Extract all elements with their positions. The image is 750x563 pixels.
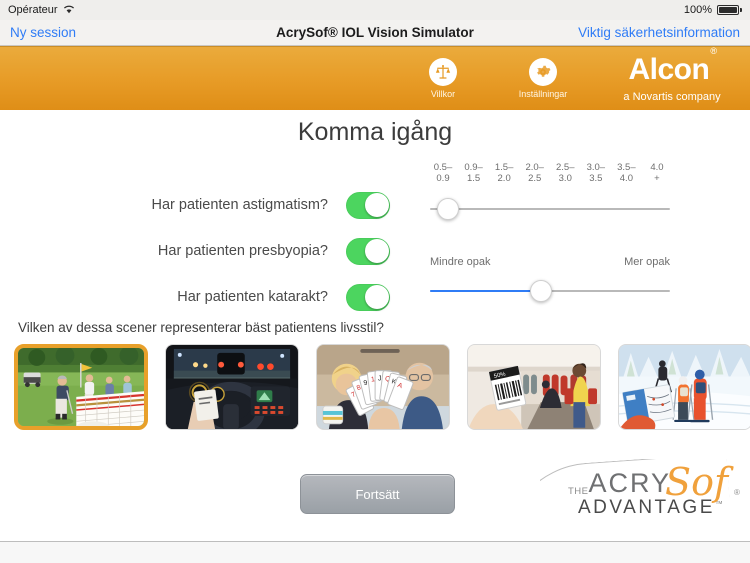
- scene-thumbnail-golf[interactable]: [14, 344, 148, 430]
- night-driving-scene-art: [166, 345, 298, 430]
- question-label-cataract: Har patienten katarakt?: [177, 289, 328, 305]
- toggle-knob: [365, 239, 389, 263]
- playing-cards-scene-art: 7 8 9 10 J Q K A: [317, 345, 449, 430]
- tick-label: 3.0– 3.5: [583, 162, 609, 184]
- slider-track: [430, 208, 670, 210]
- status-bar-right: 100%: [684, 4, 742, 16]
- cataract-max-label: Mer opak: [624, 256, 670, 268]
- brand-header-actions: Villkor Inställningar: [408, 58, 578, 99]
- wifi-icon: [63, 4, 75, 17]
- settings-label: Inställningar: [508, 89, 578, 99]
- tick-label: 0.5– 0.9: [430, 162, 456, 184]
- cataract-min-label: Mindre opak: [430, 256, 491, 268]
- scene-thumbnail-playing-cards[interactable]: 7 8 9 10 J Q K A: [316, 344, 450, 430]
- app-nav-bar: Ny session AcrySof® IOL Vision Simulator…: [0, 20, 750, 46]
- ios-status-bar: Opérateur 100%: [0, 0, 750, 20]
- safety-information-link[interactable]: Viktig säkerhetsinformation: [578, 25, 740, 40]
- cataract-track-area[interactable]: [430, 280, 670, 302]
- scene-thumbnail-night-driving[interactable]: [165, 344, 299, 430]
- scene-thumbnail-skiing[interactable]: [618, 344, 750, 430]
- question-row-presbyopia: Har patienten presbyopia?: [120, 228, 390, 274]
- brand-header-bar: Villkor Inställningar Alcon® a Novartis …: [0, 46, 750, 110]
- bottom-strip: [0, 541, 750, 563]
- toggle-knob: [365, 285, 389, 309]
- status-bar-left: Opérateur: [8, 4, 75, 17]
- svg-text:J: J: [378, 375, 381, 382]
- tick-label: 3.5– 4.0: [613, 162, 639, 184]
- tick-label: 4.0 +: [644, 162, 670, 184]
- question-row-cataract: Har patienten katarakt?: [120, 274, 390, 320]
- app-root: Opérateur 100% Ny session AcrySof® IOL V…: [0, 0, 750, 563]
- skiing-scene-art: [619, 345, 750, 430]
- scene-picker: 7 8 9 10 J Q K A: [14, 344, 736, 430]
- question-label-astigmatism: Har patienten astigmatism?: [152, 197, 329, 213]
- advantage-registered-mark: ®: [734, 488, 740, 497]
- alcon-logo: Alcon® a Novartis company: [600, 55, 750, 103]
- tick-label: 0.9– 1.5: [461, 162, 487, 184]
- toggle-knob: [365, 193, 389, 217]
- toggle-astigmatism[interactable]: [346, 192, 390, 219]
- tick-label: 2.0– 2.5: [522, 162, 548, 184]
- acrysof-advantage-logo: THE ACRY Sof ® ADVANTAGE™: [540, 459, 750, 537]
- golf-scene-art: [18, 348, 144, 429]
- cataract-opacity-slider[interactable]: Mindre opak Mer opak: [430, 256, 670, 302]
- astigmatism-slider[interactable]: 0.5– 0.9 0.9– 1.5 1.5– 2.0 2.0– 2.5 2.5–…: [430, 162, 670, 220]
- alcon-registered-mark: ®: [710, 46, 716, 56]
- scene-thumbnail-shopping[interactable]: 50%: [467, 344, 601, 430]
- patient-questions-list: Har patienten astigmatism? Har patienten…: [120, 182, 390, 320]
- settings-button[interactable]: Inställningar: [508, 58, 578, 99]
- page-title: Komma igång: [0, 118, 750, 147]
- carrier-label: Opérateur: [8, 4, 58, 16]
- question-label-presbyopia: Har patienten presbyopia?: [158, 243, 328, 259]
- question-row-astigmatism: Har patienten astigmatism?: [120, 182, 390, 228]
- battery-icon: [717, 5, 742, 15]
- slider-fill: [430, 290, 540, 292]
- tick-label: 2.5– 3.0: [552, 162, 578, 184]
- gear-icon: [529, 58, 557, 86]
- astigmatism-tick-labels: 0.5– 0.9 0.9– 1.5 1.5– 2.0 2.0– 2.5 2.5–…: [430, 162, 670, 184]
- scales-balance-icon: [429, 58, 457, 86]
- alcon-tagline: a Novartis company: [600, 91, 744, 103]
- terms-label: Villkor: [408, 89, 478, 99]
- shopping-scene-art: 50%: [468, 345, 600, 430]
- cataract-end-labels: Mindre opak Mer opak: [430, 256, 670, 268]
- battery-percent-label: 100%: [684, 4, 712, 16]
- continue-button[interactable]: Fortsätt: [300, 474, 455, 514]
- advantage-sof-text: Sof: [665, 463, 728, 501]
- alcon-logo-text: Alcon: [629, 53, 710, 86]
- alcon-wordmark: Alcon®: [629, 55, 716, 85]
- toggle-presbyopia[interactable]: [346, 238, 390, 265]
- new-session-link[interactable]: Ny session: [10, 25, 76, 40]
- slider-knob[interactable]: [530, 280, 552, 302]
- terms-button[interactable]: Villkor: [408, 58, 478, 99]
- tick-label: 1.5– 2.0: [491, 162, 517, 184]
- toggle-cataract[interactable]: [346, 284, 390, 311]
- scene-picker-prompt: Vilken av dessa scener representerar bäs…: [18, 320, 384, 335]
- astigmatism-track-area[interactable]: [430, 198, 670, 220]
- slider-knob[interactable]: [437, 198, 459, 220]
